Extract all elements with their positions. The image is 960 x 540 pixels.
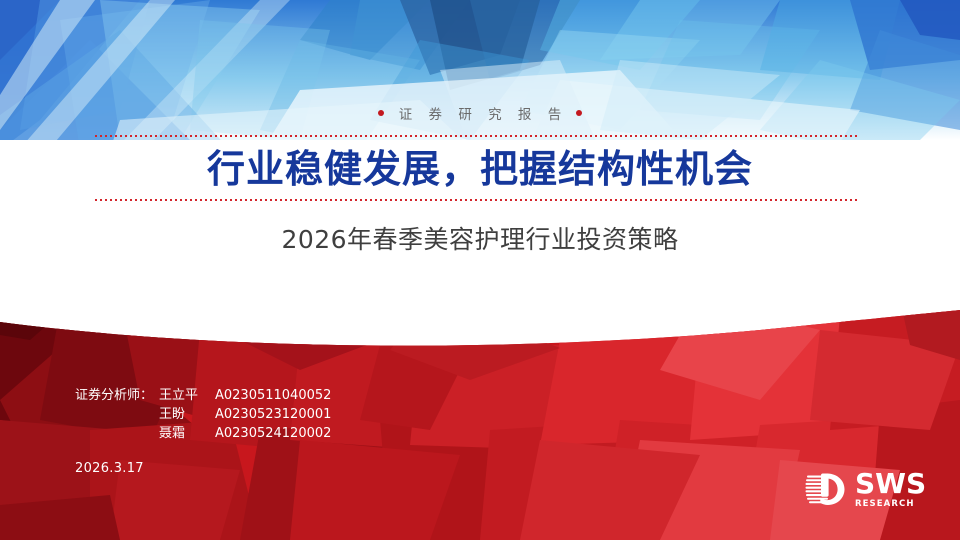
report-type-label: 证 券 研 究 报 告 [393, 103, 567, 123]
analyst-section-label: 证券分析师： [75, 386, 159, 405]
sws-wordmark: SWS RESEARCH [855, 470, 926, 509]
analyst-license-code: A0230524120002 [215, 424, 331, 443]
analyst-row: 证券分析师： 聂霜 A0230524120002 [75, 424, 331, 443]
presentation-cover-slide: 证 券 研 究 报 告 行业稳健发展，把握结构性机会 2026年春季美容护理行业… [0, 0, 960, 540]
page-subtitle: 2026年春季美容护理行业投资策略 [0, 220, 960, 256]
publication-date: 2026.3.17 [75, 461, 144, 476]
page-title: 行业稳健发展，把握结构性机会 [0, 146, 960, 192]
analyst-row: 证券分析师： 王盼 A0230523120001 [75, 405, 331, 424]
analyst-credits: 证券分析师： 王立平 A0230511040052 证券分析师： 王盼 A023… [75, 386, 331, 443]
sws-brand-tagline: RESEARCH [855, 500, 926, 509]
analyst-license-code: A0230523120001 [215, 405, 331, 424]
sws-emblem-icon [804, 467, 848, 511]
sws-brand-name: SWS [855, 470, 926, 498]
bullet-dot-left-icon [378, 110, 384, 116]
analyst-name: 王盼 [159, 405, 215, 424]
analyst-license-code: A0230511040052 [215, 386, 331, 405]
report-type-kicker: 证 券 研 究 报 告 [0, 103, 960, 123]
title-divider-top [95, 135, 860, 137]
sws-logo: SWS RESEARCH [804, 465, 934, 513]
analyst-row: 证券分析师： 王立平 A0230511040052 [75, 386, 331, 405]
analyst-name: 王立平 [159, 386, 215, 405]
background-artwork [0, 0, 960, 540]
analyst-name: 聂霜 [159, 424, 215, 443]
title-divider-bottom [95, 199, 860, 201]
bullet-dot-right-icon [576, 110, 582, 116]
